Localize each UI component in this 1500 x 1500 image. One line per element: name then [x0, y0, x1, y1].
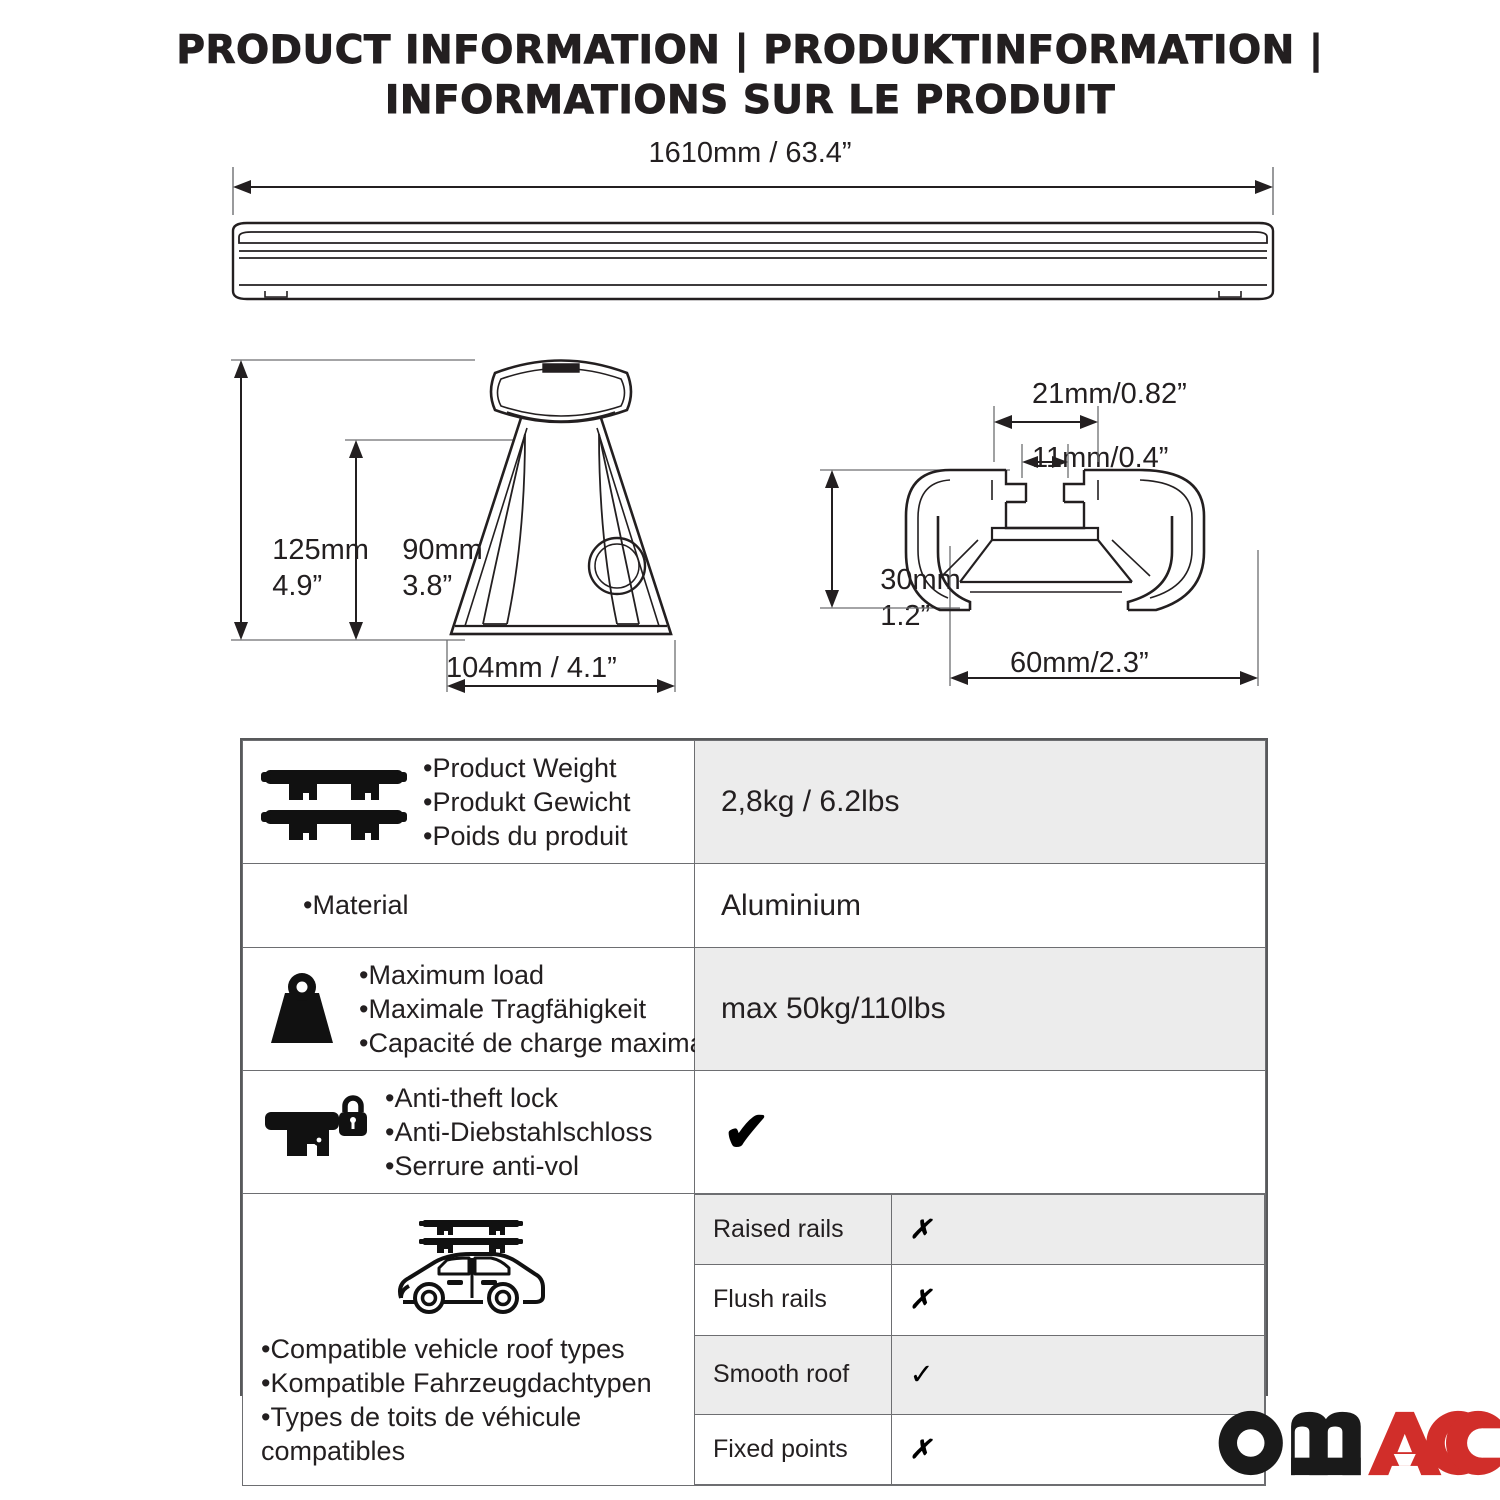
roof-bar-top-view-diagram	[225, 165, 1285, 310]
subrow-flush-rails-label-cell: Flush rails	[695, 1265, 891, 1335]
table-row-product-weight: •Product Weight •Produkt Gewicht •Poids …	[243, 741, 1266, 864]
maximum-load-label-en: •Maximum load	[359, 958, 726, 992]
subrow-flush-rails: Flush rails ✗	[695, 1265, 1265, 1335]
subrow-raised-rails-label: Raised rails	[695, 1215, 891, 1244]
anti-theft-label-cell: •Anti-theft lock •Anti-Diebstahlschloss …	[243, 1071, 695, 1194]
subrow-flush-rails-mark: ✗	[892, 1284, 1265, 1315]
table-row-material: •Material Aluminium	[243, 864, 1266, 948]
subrow-flush-rails-mark-cell: ✗	[891, 1265, 1265, 1335]
subrow-smooth-roof-mark-cell: ✓	[891, 1335, 1265, 1414]
material-label: •Material	[243, 890, 694, 921]
product-weight-label-cell: •Product Weight •Produkt Gewicht •Poids …	[243, 741, 695, 864]
maximum-load-label-cell: •Maximum load •Maximale Tragfähigkeit •C…	[243, 948, 695, 1071]
material-value-cell: Aluminium	[695, 864, 1266, 948]
subrow-smooth-roof: Smooth roof ✓	[695, 1335, 1265, 1414]
omac-logo	[1202, 1410, 1492, 1476]
subrow-raised-rails-mark-cell: ✗	[891, 1195, 1265, 1265]
material-label-cell: •Material	[243, 864, 695, 948]
page-title-line-2: INFORMATIONS SUR LE PRODUIT	[0, 76, 1500, 126]
subrow-smooth-roof-label: Smooth roof	[695, 1360, 891, 1389]
roof-types-label-fr: •Types de toits de véhicule compatibles	[261, 1402, 581, 1466]
anti-theft-label-de: •Anti-Diebstahlschloss	[385, 1115, 653, 1149]
roof-types-label-de: •Kompatible Fahrzeugdachtypen	[261, 1366, 661, 1400]
logo-letter-m	[1291, 1412, 1361, 1475]
roof-bar-cross-section-diagram	[810, 400, 1280, 700]
product-weight-label-en: •Product Weight	[423, 751, 631, 785]
subrow-fixed-points: Fixed points ✗	[695, 1414, 1265, 1484]
bar-with-lock-icon	[259, 1092, 371, 1172]
anti-theft-value-cell: ✔	[695, 1071, 1266, 1194]
subrow-smooth-roof-mark: ✓	[892, 1357, 1265, 1392]
maximum-load-labels: •Maximum load •Maximale Tragfähigkeit •C…	[359, 958, 726, 1060]
product-weight-value: 2,8kg / 6.2lbs	[695, 785, 1265, 819]
product-weight-label-fr: •Poids du produit	[423, 819, 631, 853]
product-information-sheet: PRODUCT INFORMATION | PRODUKTINFORMATION…	[0, 0, 1500, 1500]
maximum-load-value-cell: max 50kg/110lbs	[695, 948, 1266, 1071]
roof-bar-foot-diagram	[225, 348, 705, 700]
product-weight-value-cell: 2,8kg / 6.2lbs	[695, 741, 1266, 864]
subrow-fixed-points-label: Fixed points	[695, 1435, 891, 1464]
subrow-smooth-roof-label-cell: Smooth roof	[695, 1335, 891, 1414]
logo-letter-c	[1426, 1411, 1500, 1475]
subrow-fixed-points-label-cell: Fixed points	[695, 1414, 891, 1484]
product-weight-labels: •Product Weight •Produkt Gewicht •Poids …	[423, 751, 631, 853]
logo-letter-o	[1219, 1411, 1283, 1475]
anti-theft-check-mark: ✔	[695, 1104, 1265, 1160]
maximum-load-label-de: •Maximale Tragfähigkeit	[359, 992, 726, 1026]
roof-types-label-en: •Compatible vehicle roof types	[261, 1332, 661, 1366]
weight-icon	[259, 969, 345, 1049]
page-title-line-1: PRODUCT INFORMATION | PRODUKTINFORMATION…	[0, 26, 1500, 76]
subrow-flush-rails-label: Flush rails	[695, 1285, 891, 1314]
specification-table: •Product Weight •Produkt Gewicht •Poids …	[240, 738, 1268, 1396]
roof-types-subtable-cell: Raised rails ✗ Flush rails ✗	[695, 1194, 1266, 1486]
material-value: Aluminium	[695, 889, 1265, 923]
anti-theft-label-fr: •Serrure anti-vol	[385, 1149, 653, 1183]
roof-types-label-cell: •Compatible vehicle roof types •Kompatib…	[243, 1194, 695, 1486]
table-row-roof-types: •Compatible vehicle roof types •Kompatib…	[243, 1194, 1266, 1486]
table-row-maximum-load: •Maximum load •Maximale Tragfähigkeit •C…	[243, 948, 1266, 1071]
product-weight-label-de: •Produkt Gewicht	[423, 785, 631, 819]
subrow-raised-rails-label-cell: Raised rails	[695, 1195, 891, 1265]
roof-types-subtable: Raised rails ✗ Flush rails ✗	[695, 1194, 1265, 1485]
maximum-load-label-fr: •Capacité de charge maximale	[359, 1026, 726, 1060]
car-with-roof-bars-icon	[383, 1212, 555, 1324]
table-row-anti-theft-lock: •Anti-theft lock •Anti-Diebstahlschloss …	[243, 1071, 1266, 1194]
anti-theft-labels: •Anti-theft lock •Anti-Diebstahlschloss …	[385, 1081, 653, 1183]
maximum-load-value: max 50kg/110lbs	[695, 992, 1265, 1026]
roof-types-labels: •Compatible vehicle roof types •Kompatib…	[253, 1332, 661, 1468]
subrow-raised-rails: Raised rails ✗	[695, 1195, 1265, 1265]
page-title: PRODUCT INFORMATION | PRODUKTINFORMATION…	[0, 26, 1500, 126]
subrow-raised-rails-mark: ✗	[892, 1214, 1265, 1245]
anti-theft-label-en: •Anti-theft lock	[385, 1081, 653, 1115]
two-crossbars-icon	[259, 760, 409, 844]
